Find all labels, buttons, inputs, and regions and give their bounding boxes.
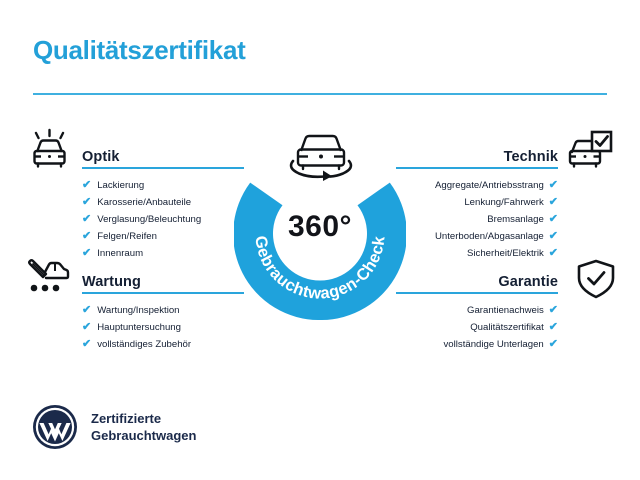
section-garantie: Garantie Garantienachweis✔Qualitätszerti… [396,268,558,353]
checklist-item: Sicherheit/Elektrik✔ [396,245,558,262]
checklist-item: Unterboden/Abgasanlage✔ [396,228,558,245]
check-icon: ✔ [82,339,91,350]
checklist-item-label: Wartung/Inspektion [97,306,179,316]
page-title: Qualitätszertifikat [33,35,245,66]
checklist-item-label: vollständige Unterlagen [444,340,544,350]
check-icon: ✔ [549,214,558,225]
checklist-item-label: Qualitätszertifikat [470,323,544,333]
section-optik: Optik ✔Lackierung✔Karosserie/Anbauteile✔… [82,143,244,262]
checklist-item: Aggregate/Antriebsstrang✔ [396,177,558,194]
check-icon: ✔ [82,248,91,259]
checklist-item: ✔vollständiges Zubehör [82,336,244,353]
section-title-technik: Technik [504,149,558,165]
wrench-car-icon [24,255,72,299]
checklist-item: Lenkung/Fahrwerk✔ [396,194,558,211]
car-checkbox-icon [566,128,614,172]
checklist-garantie: Garantienachweis✔Qualitätszertifikat✔vol… [396,302,558,353]
certificate-page: Qualitätszertifikat [0,0,640,480]
checklist-item-label: Hauptuntersuchung [97,323,181,333]
check-icon: ✔ [82,197,91,208]
footer-text: Zertifizierte Gebrauchtwagen [91,410,196,444]
check-icon: ✔ [82,322,91,333]
checklist-item: ✔Lackierung [82,177,244,194]
vw-logo-icon [31,403,79,451]
footer-line-1: Zertifizierte [91,410,196,427]
checklist-technik: Aggregate/Antriebsstrang✔Lenkung/Fahrwer… [396,177,558,262]
checklist-item: Bremsanlage✔ [396,211,558,228]
check-icon: ✔ [549,322,558,333]
section-title-garantie: Garantie [498,274,558,290]
section-divider-garantie [396,292,558,294]
section-header-optik: Optik [82,143,244,169]
checklist-optik: ✔Lackierung✔Karosserie/Anbauteile✔Vergla… [82,177,244,262]
check-icon: ✔ [82,231,91,242]
footer-line-2: Gebrauchtwagen [91,427,196,444]
check-icon: ✔ [549,180,558,191]
checklist-item: ✔Hauptuntersuchung [82,319,244,336]
section-header-garantie: Garantie [396,268,558,294]
checklist-wartung: ✔Wartung/Inspektion✔Hauptuntersuchung✔vo… [82,302,244,353]
checklist-item-label: Innenraum [97,249,143,259]
checklist-item-label: Lackierung [97,181,144,191]
checklist-item-label: Lenkung/Fahrwerk [464,198,543,208]
checklist-item-label: vollständiges Zubehör [97,340,191,350]
check-icon: ✔ [82,305,91,316]
checklist-item: ✔Innenraum [82,245,244,262]
checklist-item-label: Unterboden/Abgasanlage [435,232,544,242]
title-divider [33,93,607,95]
checklist-item: ✔Felgen/Reifen [82,228,244,245]
checklist-item: ✔Karosserie/Anbauteile [82,194,244,211]
check-icon: ✔ [549,305,558,316]
checklist-item: Garantienachweis✔ [396,302,558,319]
shield-check-icon [572,257,620,301]
check-icon: ✔ [82,180,91,191]
checklist-item-label: Felgen/Reifen [97,232,157,242]
section-header-technik: Technik [396,143,558,169]
checklist-item: Qualitätszertifikat✔ [396,319,558,336]
checklist-item: ✔Verglasung/Beleuchtung [82,211,244,228]
checklist-item-label: Verglasung/Beleuchtung [97,215,201,225]
checklist-item-label: Karosserie/Anbauteile [97,198,191,208]
check-icon: ✔ [549,197,558,208]
checklist-item-label: Sicherheit/Elektrik [467,249,544,259]
checklist-item-label: Aggregate/Antriebsstrang [435,181,544,191]
section-divider-wartung [82,292,244,294]
section-wartung: Wartung ✔Wartung/Inspektion✔Hauptuntersu… [82,268,244,353]
car-rotate-icon [277,124,365,184]
car-shine-icon [26,128,74,172]
checklist-item: vollständige Unterlagen✔ [396,336,558,353]
checklist-item: ✔Wartung/Inspektion [82,302,244,319]
check-icon: ✔ [82,214,91,225]
check-icon: ✔ [549,231,558,242]
section-title-wartung: Wartung [82,274,141,290]
footer-branding: Zertifizierte Gebrauchtwagen [31,403,196,451]
check-icon: ✔ [549,339,558,350]
check-icon: ✔ [549,248,558,259]
checklist-item-label: Bremsanlage [487,215,544,225]
section-technik: Technik Aggregate/Antriebsstrang✔Lenkung… [396,143,558,262]
section-title-optik: Optik [82,149,120,165]
section-divider-optik [82,167,244,169]
section-divider-technik [396,167,558,169]
section-header-wartung: Wartung [82,268,244,294]
checklist-item-label: Garantienachweis [467,306,544,316]
